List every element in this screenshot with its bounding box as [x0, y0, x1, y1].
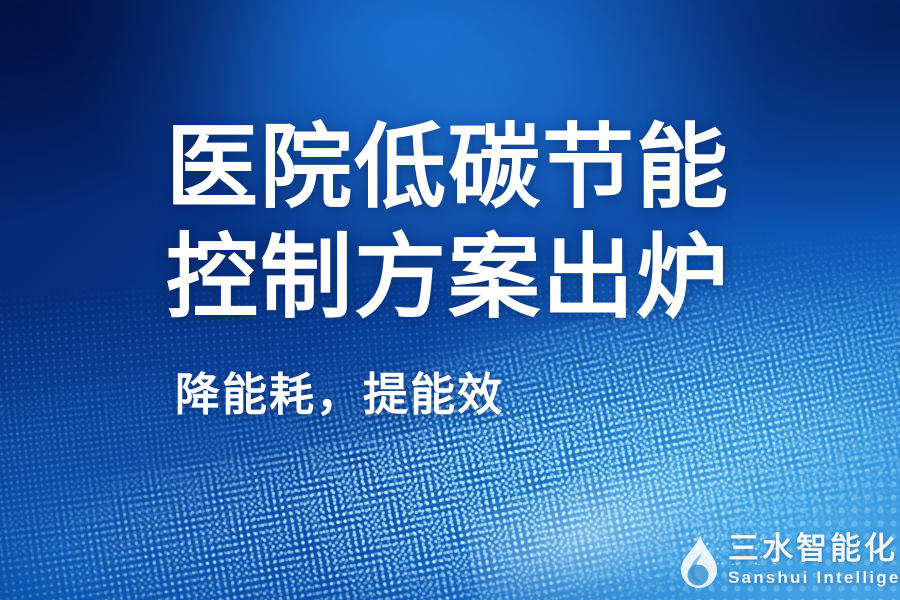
watermark-logo: 三水智能化 Sanshui Intelligent	[672, 531, 888, 593]
logo-name-cn: 三水智能化	[728, 533, 898, 564]
banner-image: 医院低碳节能 控制方案出炉 降能耗，提能效 三水智能化 Sanshui Inte…	[0, 0, 900, 600]
banner-content: 医院低碳节能 控制方案出炉 降能耗，提能效 三水智能化 Sanshui Inte…	[0, 0, 900, 600]
logo-name-en: Sanshui Intelligent	[728, 569, 900, 586]
headline-line-2: 控制方案出炉	[166, 232, 730, 324]
headline-line-1: 医院低碳节能	[166, 122, 730, 214]
subtitle: 降能耗，提能效	[175, 372, 504, 417]
